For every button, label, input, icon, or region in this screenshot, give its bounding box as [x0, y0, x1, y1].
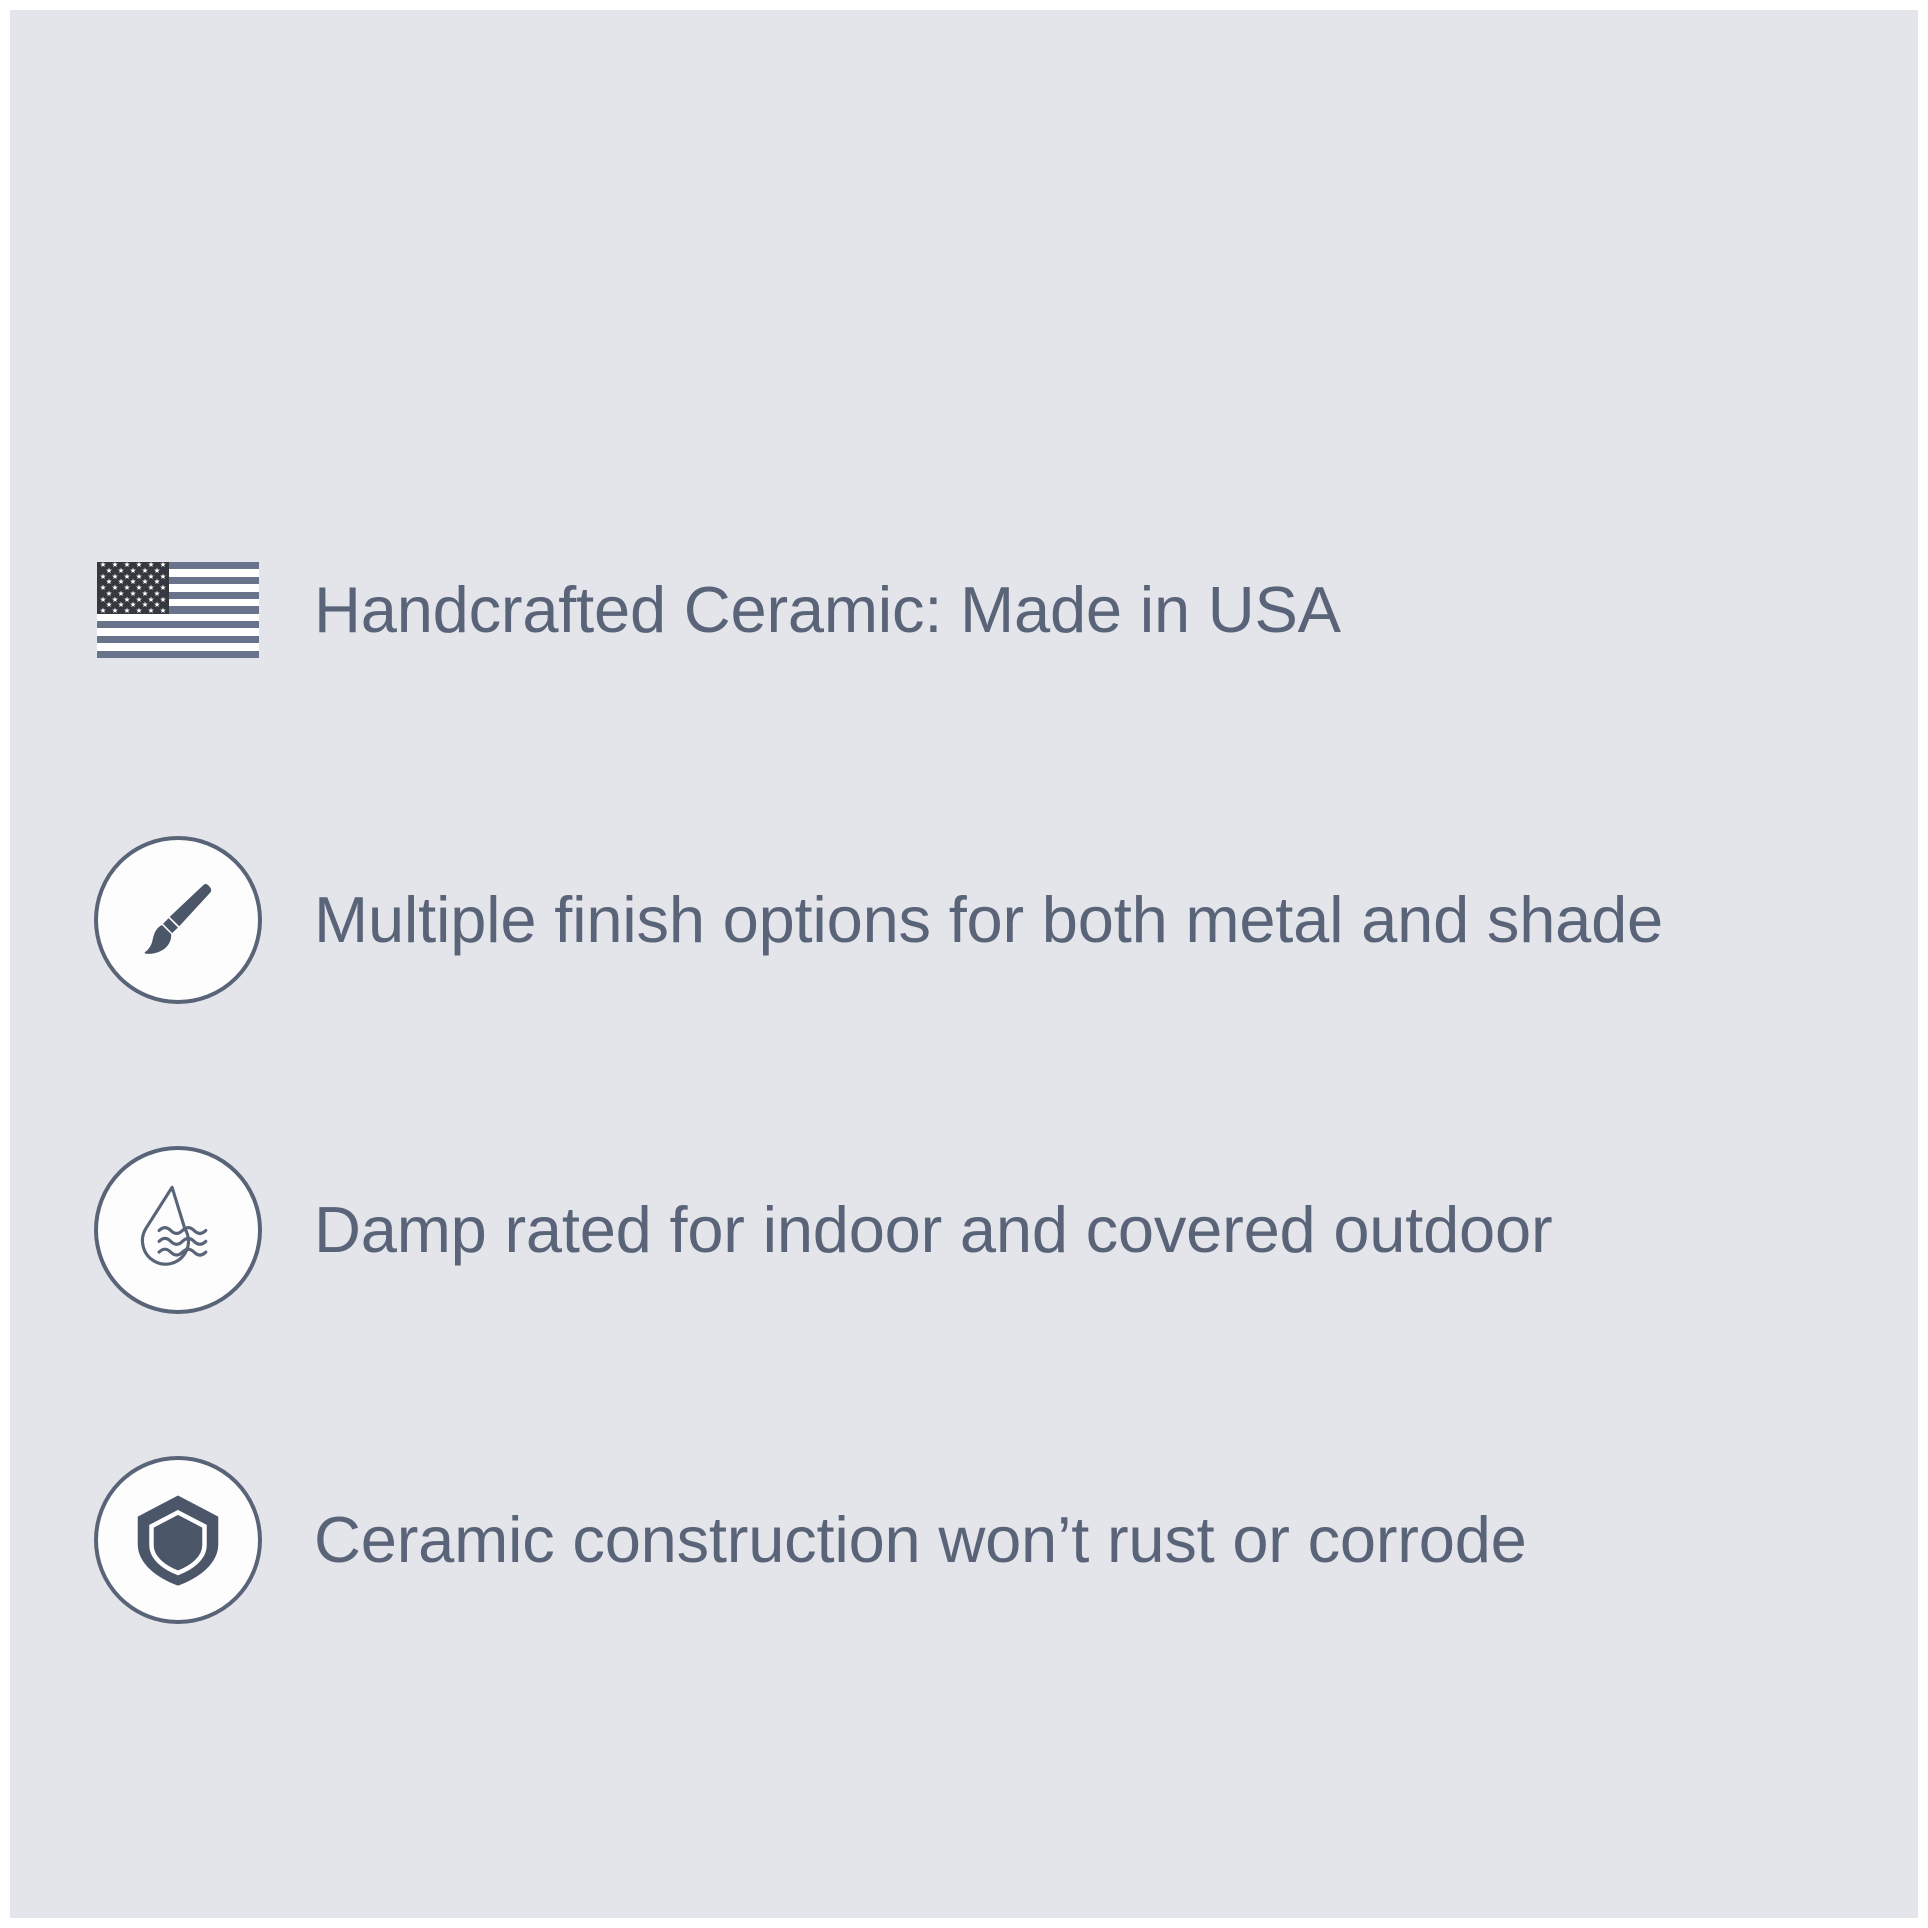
list-item: Damp rated for indoor and covered outdoo… [88, 1120, 1888, 1340]
feature-label: Handcrafted Ceramic: Made in USA [268, 574, 1341, 646]
feature-panel: ★★★★★★★★★★★★★★★★★★★★★★★★★★★★★★★★★★★★★★★★… [10, 10, 1918, 1918]
list-item: ★★★★★★★★★★★★★★★★★★★★★★★★★★★★★★★★★★★★★★★★… [88, 500, 1888, 720]
feature-label: Ceramic construction won’t rust or corro… [268, 1504, 1527, 1576]
flag-stripe [97, 636, 259, 643]
flag-stripe [97, 621, 259, 628]
flag-canton: ★★★★★★★★★★★★★★★★★★★★★★★★★★★★★★★★★★★★★★★★… [97, 562, 169, 614]
feature-list: ★★★★★★★★★★★★★★★★★★★★★★★★★★★★★★★★★★★★★★★★… [88, 500, 1888, 1650]
flag-star-row: ★★★★★★ [97, 608, 169, 614]
us-flag-icon: ★★★★★★★★★★★★★★★★★★★★★★★★★★★★★★★★★★★★★★★★… [97, 562, 259, 658]
list-item: Multiple finish options for both metal a… [88, 810, 1888, 1030]
shield-icon [94, 1456, 262, 1624]
flag-star: ★ [160, 607, 167, 615]
paintbrush-icon [94, 836, 262, 1004]
feature-icon-slot: ★★★★★★★★★★★★★★★★★★★★★★★★★★★★★★★★★★★★★★★★… [88, 520, 268, 700]
flag-star: ★ [124, 607, 131, 615]
list-item: Ceramic construction won’t rust or corro… [88, 1430, 1888, 1650]
flag-star: ★ [136, 607, 143, 615]
feature-icon-slot [88, 830, 268, 1010]
flag-stripe [97, 651, 259, 658]
feature-icon-slot [88, 1450, 268, 1630]
feature-label: Damp rated for indoor and covered outdoo… [268, 1194, 1552, 1266]
flag-star: ★ [100, 607, 107, 615]
flag-star: ★ [112, 607, 119, 615]
feature-label: Multiple finish options for both metal a… [268, 884, 1663, 956]
feature-icon-slot [88, 1140, 268, 1320]
flag-star: ★ [148, 607, 155, 615]
water-drop-icon [94, 1146, 262, 1314]
